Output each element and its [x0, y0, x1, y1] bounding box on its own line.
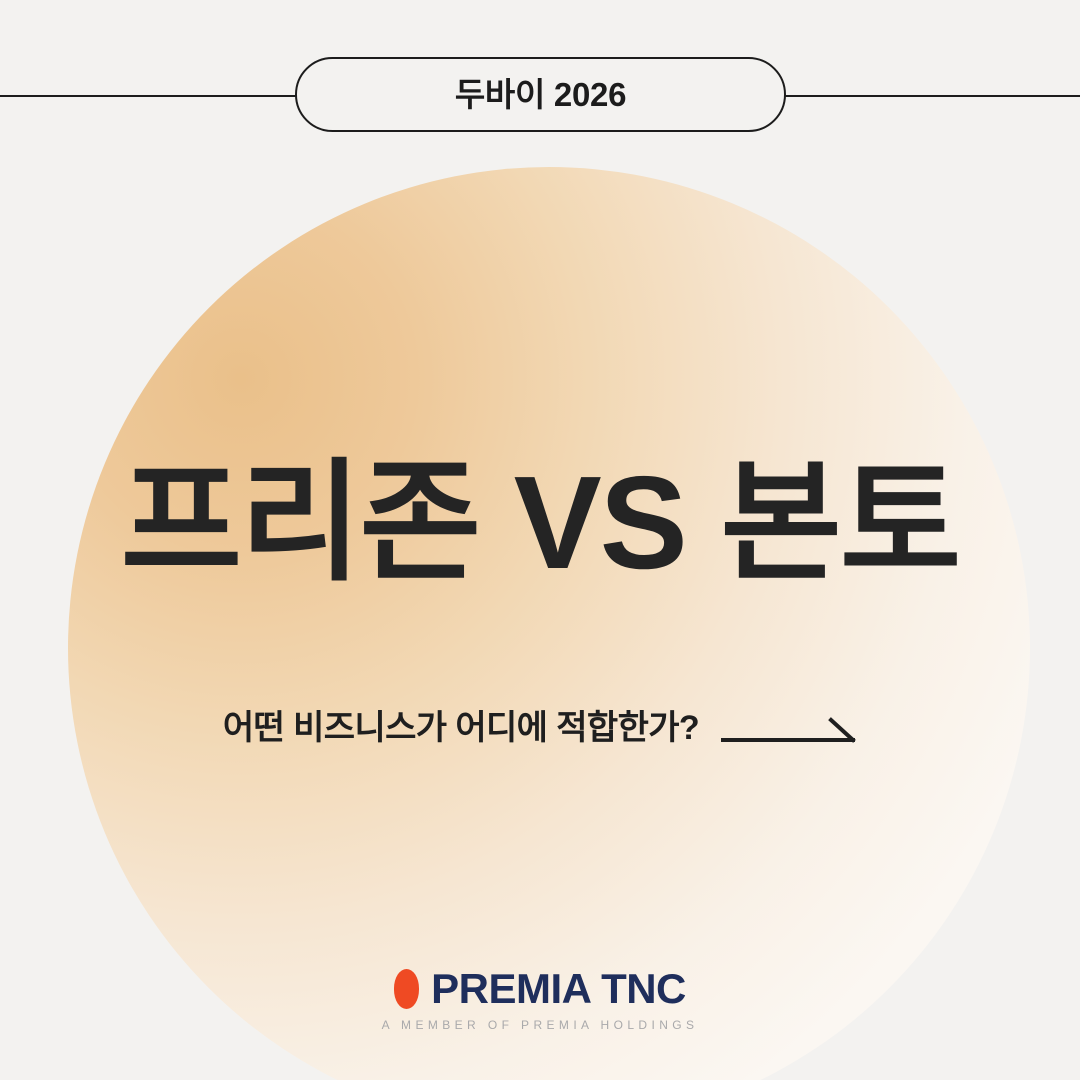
- logo-tagline: A MEMBER OF PREMIA HOLDINGS: [382, 1019, 699, 1031]
- header-rule-left: [0, 95, 300, 97]
- gradient-circle: [68, 167, 1030, 1080]
- logo-wordmark: PREMIA TNC: [431, 968, 686, 1010]
- logo-row: PREMIA TNC: [394, 968, 686, 1010]
- premia-dot-mark-icon: [394, 969, 419, 1009]
- header-badge-label: 두바이 2026: [455, 78, 626, 111]
- slide-canvas: 두바이 2026 프리존 VS 본토 어떤 비즈니스가 어디에 적합한가? PR…: [0, 0, 1080, 1080]
- top-header-bar: 두바이 2026: [0, 57, 1080, 133]
- page-title: 프리존 VS 본토: [0, 452, 1080, 595]
- arrow-right-icon: [721, 708, 857, 748]
- page-subtitle: 어떤 비즈니스가 어디에 적합한가?: [223, 711, 699, 745]
- header-rule-right: [780, 95, 1080, 97]
- footer-logo: PREMIA TNC A MEMBER OF PREMIA HOLDINGS: [0, 968, 1080, 1031]
- header-badge: 두바이 2026: [295, 57, 786, 132]
- subtitle-row: 어떤 비즈니스가 어디에 적합한가?: [0, 708, 1080, 748]
